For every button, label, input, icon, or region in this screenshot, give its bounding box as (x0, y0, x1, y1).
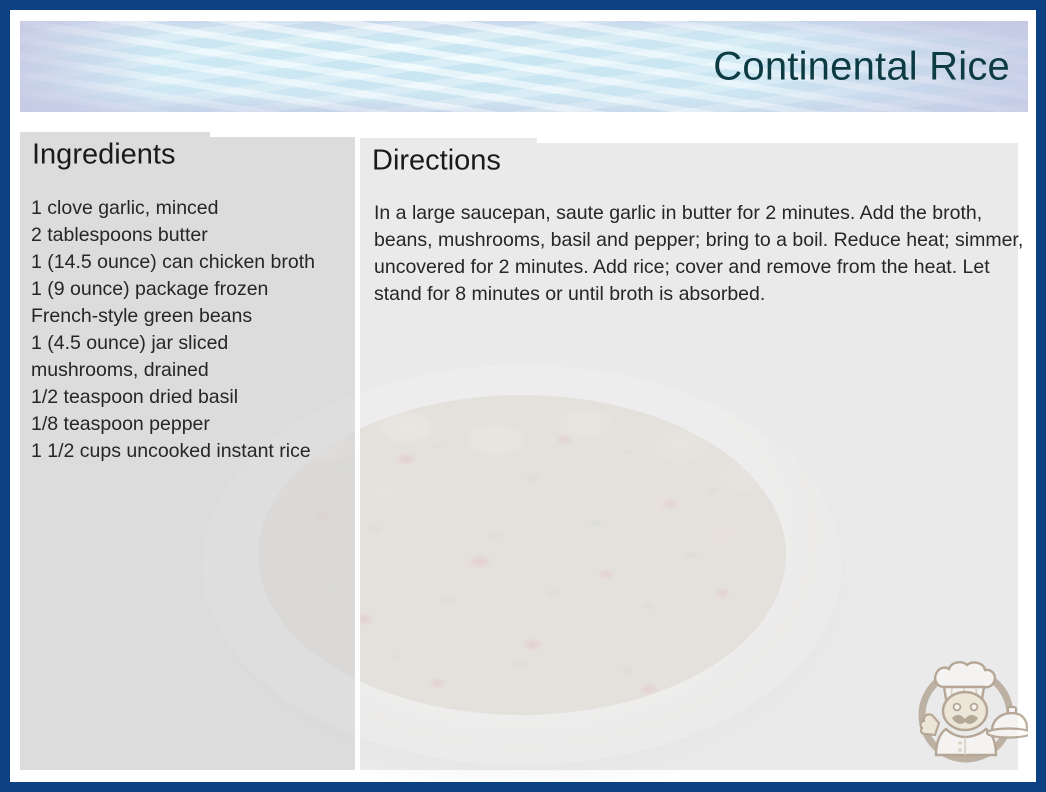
header-banner: Continental Rice (20, 21, 1028, 112)
page-title: Continental Rice (713, 44, 1010, 89)
ingredients-heading: Ingredients (32, 138, 176, 171)
chef-logo (908, 643, 1028, 768)
tab-ingredients: Ingredients (20, 132, 210, 177)
tab-directions: Directions (360, 138, 537, 183)
directions-text: In a large saucepan, saute garlic in but… (374, 200, 1026, 308)
recipe-page: Continental Rice Ingredients Directions (10, 10, 1036, 782)
directions-heading: Directions (372, 144, 501, 177)
recipe-card: Continental Rice Ingredients Directions (0, 0, 1046, 792)
ingredients-list: 1 clove garlic, minced 2 tablespoons but… (31, 195, 361, 465)
